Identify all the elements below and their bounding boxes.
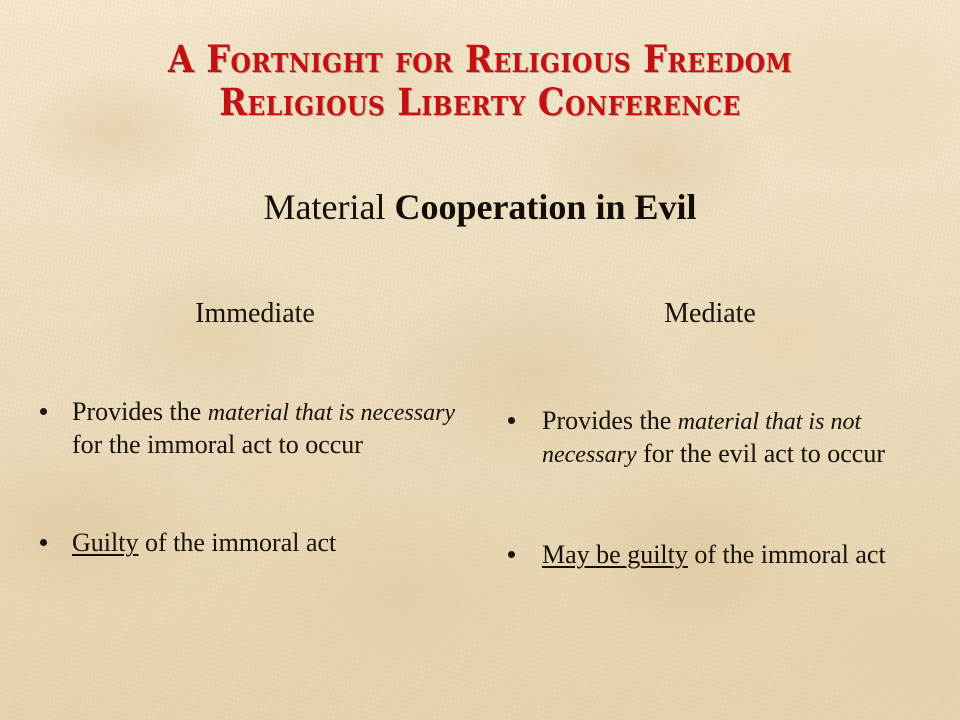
column-immediate: Immediate Provides the material that is … xyxy=(14,298,466,559)
bullet-text-rest: of the immoral act xyxy=(138,528,336,557)
title-line-2: Religious Liberty Conference xyxy=(0,81,960,124)
slide-title: A Fortnight for Religious Freedom Religi… xyxy=(0,38,960,124)
slide-subtitle: Material Cooperation in Evil xyxy=(0,186,960,228)
list-item: May be guilty of the immoral act xyxy=(474,539,934,571)
bullet-text-underlined: May be guilty xyxy=(542,540,688,569)
title-line-1: A Fortnight for Religious Freedom xyxy=(0,38,960,81)
subtitle-bold-text: Cooperation in Evil xyxy=(394,187,696,227)
bullet-list-mediate: Provides the material that is not necess… xyxy=(474,405,934,571)
bullet-text-underlined: Guilty xyxy=(72,528,138,557)
bullet-text-part1: Provides the xyxy=(542,406,678,435)
list-item: Provides the material that is not necess… xyxy=(474,405,934,471)
column-heading-immediate: Immediate xyxy=(14,298,466,330)
bullet-dot-icon xyxy=(508,551,515,558)
bullet-list-immediate: Provides the material that is necessary … xyxy=(14,396,466,559)
bullet-text-rest: of the immoral act xyxy=(688,540,886,569)
bullet-text-part2: for the evil act to occur xyxy=(637,439,885,468)
bullet-dot-icon xyxy=(508,417,515,424)
bullet-dot-icon xyxy=(40,408,47,415)
list-item: Provides the material that is necessary … xyxy=(14,396,466,461)
bullet-dot-icon xyxy=(40,539,47,546)
bullet-text-italic: material that is necessary xyxy=(208,400,455,426)
bullet-text-part2: for the immoral act to occur xyxy=(72,430,363,459)
slide-canvas: A Fortnight for Religious Freedom Religi… xyxy=(0,0,960,720)
column-heading-mediate: Mediate xyxy=(474,298,934,330)
bullet-text-part1: Provides the xyxy=(72,397,208,426)
list-item: Guilty of the immoral act xyxy=(14,527,466,559)
column-mediate: Mediate Provides the material that is no… xyxy=(474,298,934,571)
subtitle-light-text: Material xyxy=(264,187,395,227)
